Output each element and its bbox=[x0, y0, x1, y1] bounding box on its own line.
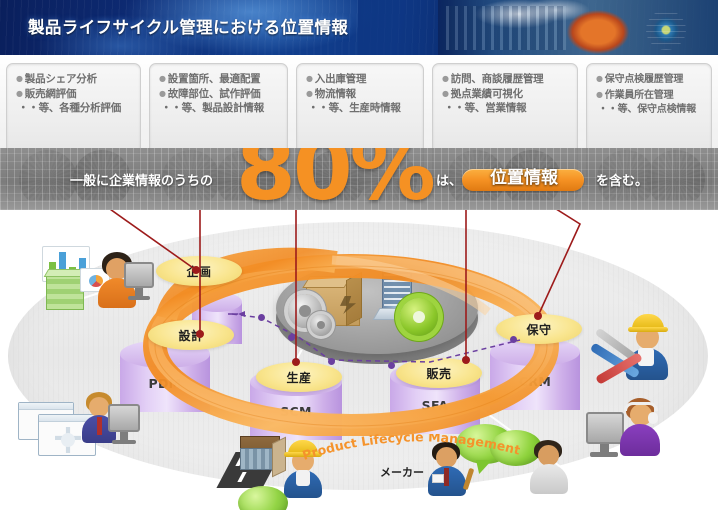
panel-line: 設置箇所、最適配置 bbox=[168, 73, 261, 85]
panel-line: ・・等、生産時情報 bbox=[308, 102, 401, 114]
plm-diagram-stage: メーカー Products & Parts 基幹システム PDM SCM SFA… bbox=[0, 210, 718, 510]
stage-label: 保守 bbox=[496, 321, 582, 338]
panel-line: 製品シェア分析 bbox=[25, 73, 97, 85]
stage-node-sekkei[interactable]: 設計 bbox=[148, 320, 234, 350]
panel-line: ・・等、各種分析評価 bbox=[18, 102, 121, 114]
page-title: 製品ライフサイクル管理における位置情報 bbox=[28, 14, 348, 38]
panel-line: 作業員所在管理 bbox=[605, 90, 674, 101]
panel-line: 拠点業績可視化 bbox=[451, 88, 523, 100]
panel-line: 故障部位、試作評価 bbox=[168, 88, 261, 100]
stage-label: 設計 bbox=[148, 327, 234, 344]
panel-line: 入出庫管理 bbox=[315, 73, 367, 85]
bullet-icon: ● bbox=[596, 74, 603, 83]
bullet-icon: ● bbox=[596, 90, 603, 99]
panel-line: 物流情報 bbox=[315, 88, 356, 100]
stage-label: 販売 bbox=[396, 365, 482, 382]
banner-lead-text: 一般に企業情報のうちの bbox=[70, 170, 213, 189]
panel-line: 訪問、商談履歴管理 bbox=[451, 73, 544, 85]
bullet-icon: ● bbox=[306, 89, 313, 98]
bi-link-dot bbox=[388, 362, 395, 369]
connector-endpoint-dot bbox=[462, 356, 470, 364]
stage-label: 生産 bbox=[256, 369, 342, 386]
bi-link-dot bbox=[510, 336, 517, 343]
stage-node-seisan[interactable]: 生産 bbox=[256, 362, 342, 392]
analyst-person-icon bbox=[40, 246, 150, 326]
arc-title-text: Product Lifecycle Management bbox=[300, 434, 520, 463]
support-operator-icon bbox=[586, 388, 696, 462]
location-info-pill-label: 位置情報 bbox=[470, 163, 578, 188]
bullet-icon: ● bbox=[159, 74, 166, 83]
connector-endpoint-dot bbox=[192, 266, 200, 274]
panel-line: ・・等、製品設計情報 bbox=[161, 102, 264, 114]
bullet-icon: ● bbox=[16, 74, 23, 83]
statistic-banner: 一般に企業情報のうちの 80% は、 位置情報 を含む。 bbox=[0, 148, 718, 210]
panel-line: ・・等、保守点検情報 bbox=[598, 104, 696, 115]
connector-endpoint-dot bbox=[196, 330, 204, 338]
connector-endpoint-dot bbox=[534, 312, 542, 320]
server-rack-icon bbox=[446, 6, 566, 50]
banner-connector-text: は、 bbox=[436, 170, 462, 189]
page-header: 製品ライフサイクル管理における位置情報 bbox=[0, 0, 718, 55]
bi-link-dot bbox=[288, 334, 295, 341]
bi-link-dot bbox=[328, 358, 335, 365]
bullet-icon: ● bbox=[442, 74, 449, 83]
connector-endpoint-dot bbox=[292, 358, 300, 366]
desktop-user-icon bbox=[16, 392, 146, 468]
banner-tail-text: を含む。 bbox=[596, 170, 648, 189]
globe-icon bbox=[646, 10, 686, 50]
plm-location-infographic: 製品ライフサイクル管理における位置情報 ●製品シェア分析 ●販売網評価 ・・等、… bbox=[0, 0, 718, 510]
bi-link-dot bbox=[258, 314, 265, 321]
field-worker-icon bbox=[608, 308, 698, 394]
header-gradient-fade bbox=[358, 0, 448, 55]
panel-line: 保守点検履歴管理 bbox=[605, 74, 683, 85]
banner-percentage: 80% bbox=[236, 148, 433, 210]
panel-line: 販売網評価 bbox=[25, 88, 77, 100]
cloud-server-globe-banner-icon bbox=[438, 0, 718, 55]
svg-text:Product Lifecycle Management: Product Lifecycle Management bbox=[300, 434, 520, 463]
bullet-icon: ● bbox=[306, 74, 313, 83]
bullet-icon: ● bbox=[16, 89, 23, 98]
panel-line: ・・等、営業情報 bbox=[444, 102, 526, 114]
arc-title: Product Lifecycle Management bbox=[300, 434, 520, 464]
bullet-icon: ● bbox=[442, 89, 449, 98]
bullet-icon: ● bbox=[159, 89, 166, 98]
